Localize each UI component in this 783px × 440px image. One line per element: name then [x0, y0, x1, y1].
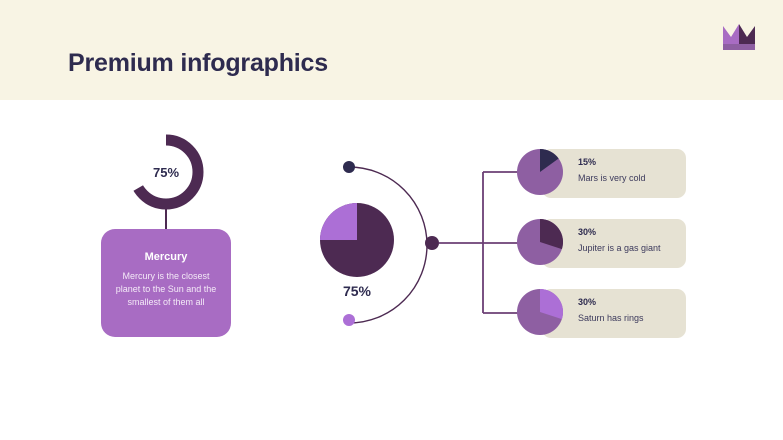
jupiter-pie-chart	[517, 219, 563, 265]
info-card-description: Mars is very cold	[578, 173, 646, 183]
mercury-card-description: Mercury is the closest planet to the Sun…	[113, 270, 219, 309]
info-card-percent: 30%	[578, 297, 644, 307]
orbit-dot-bottom[interactable]	[343, 314, 355, 326]
mars-pie-chart	[517, 149, 563, 195]
slide-canvas: Premium infographics 75% Mercury Mercury…	[0, 0, 783, 440]
mercury-info-card[interactable]: Mercury Mercury is the closest planet to…	[101, 229, 231, 337]
center-pie-chart	[320, 203, 394, 277]
saturn-pie-chart	[517, 289, 563, 335]
center-pie-label: 75%	[320, 283, 394, 299]
info-card-mars[interactable]: 15% Mars is very cold	[542, 149, 686, 198]
orbit-dot-top[interactable]	[343, 161, 355, 173]
info-card-percent: 30%	[578, 227, 661, 237]
info-card-text: 30% Jupiter is a gas giant	[578, 227, 661, 253]
info-card-percent: 15%	[578, 157, 646, 167]
info-card-description: Jupiter is a gas giant	[578, 243, 661, 253]
mercury-donut-chart: 75%	[128, 134, 204, 210]
donut-value-label: 75%	[128, 134, 204, 210]
donut-connector-stem	[165, 208, 167, 230]
info-card-jupiter[interactable]: 30% Jupiter is a gas giant	[542, 219, 686, 268]
crown-icon	[721, 20, 757, 52]
info-card-text: 15% Mars is very cold	[578, 157, 646, 183]
info-card-description: Saturn has rings	[578, 313, 644, 323]
orbit-hub-dot[interactable]	[425, 236, 439, 250]
page-title: Premium infographics	[68, 49, 328, 78]
mars-pie-svg	[517, 149, 563, 195]
jupiter-pie-svg	[517, 219, 563, 265]
info-card-text: 30% Saturn has rings	[578, 297, 644, 323]
center-pie-svg	[320, 203, 394, 277]
mercury-card-title: Mercury	[113, 251, 219, 263]
info-card-saturn[interactable]: 30% Saturn has rings	[542, 289, 686, 338]
saturn-pie-svg	[517, 289, 563, 335]
